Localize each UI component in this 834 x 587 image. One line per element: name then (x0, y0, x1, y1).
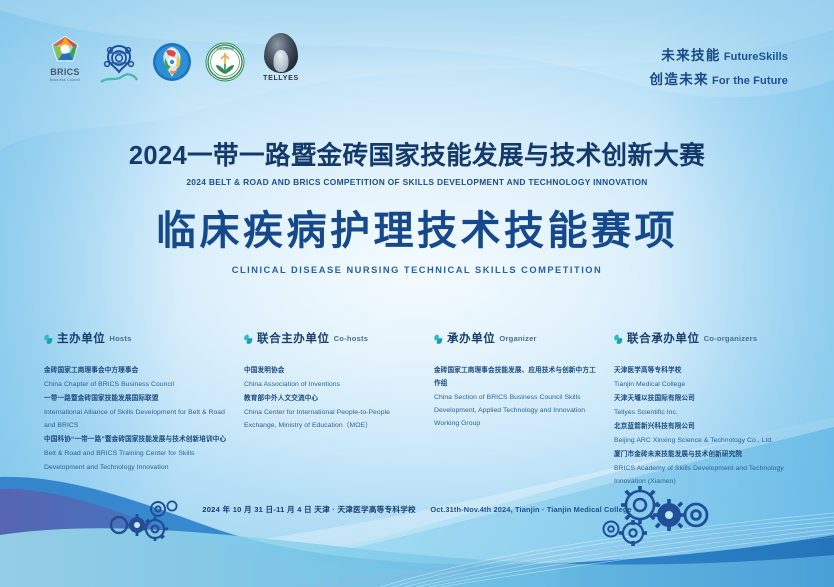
org-entry-cn: 厦门市金砖未来技能发展与技术创新研究院 (614, 449, 790, 462)
org-heading-en: Co-hosts (334, 334, 369, 343)
slogan-line-1: 未来技能FutureSkills (649, 44, 788, 68)
brics-logo-label: BRICS (44, 68, 86, 77)
org-heading: 联合主办单位 Co-hosts (244, 330, 420, 346)
leaf-marker-icon (614, 333, 623, 344)
org-entry-cn: 教育部中外人文交流中心 (244, 393, 420, 406)
org-entry: 北京蓝箭新兴科技有限公司 Beijing ARC Xinxing Science… (614, 421, 790, 447)
org-entry: 一带一路暨金砖国家技能发展国际联盟 International Alliance… (44, 393, 230, 432)
slogan-line-2-cn: 创造未来 (649, 72, 709, 87)
org-entry-en: International Alliance of Skills Develop… (44, 406, 230, 433)
org-entry-cn: 金砖国家工商理事会中方理事会 (44, 365, 230, 378)
competition-banner: BRICS Business Council (0, 0, 834, 587)
org-entry-en: BRICS Academy of Skills Development and … (614, 462, 790, 489)
org-entry: 金砖国家工商理事会中方理事会 China Chapter of BRICS Bu… (44, 365, 230, 391)
org-heading: 联合承办单位 Co-organizers (614, 330, 790, 346)
event-dateline: 2024 年 10 月 31 日-11 月 4 日 天津 · 天津医学高等专科学… (0, 499, 834, 517)
title-block: 2024一带一路暨金砖国家技能发展与技术创新大赛 2024 BELT & ROA… (0, 142, 834, 275)
org-entry-en: China Center for International People-to… (244, 406, 420, 433)
competition-title-en: CLINICAL DISEASE NURSING TECHNICAL SKILL… (0, 265, 834, 275)
leaf-marker-icon (434, 333, 443, 344)
org-heading: 主办单位 Hosts (44, 330, 230, 346)
org-heading: 承办单位 Organizer (434, 330, 600, 346)
org-heading-cn: 承办单位 (447, 330, 495, 346)
org-entry-en: Tianjin Medical College (614, 378, 790, 391)
org-entry-en: Beijing ARC Xinxing Science & Technology… (614, 434, 790, 447)
dateline-en: Oct.31th-Nov.4th 2024, Tianjin · Tianjin… (430, 505, 631, 514)
org-heading-en: Hosts (109, 334, 131, 343)
slogan-line-1-en: FutureSkills (724, 51, 788, 63)
leaf-marker-icon (244, 333, 253, 344)
international-alliance-logo (99, 42, 139, 82)
org-entry-cn: 一带一路暨金砖国家技能发展国际联盟 (44, 393, 230, 406)
org-entry-en: China Section of BRICS Business Council … (434, 391, 600, 431)
org-heading-en: Co-organizers (704, 334, 758, 343)
org-entry: 教育部中外人文交流中心 China Center for Internation… (244, 393, 420, 432)
org-column-organizer: 承办单位 Organizer 金砖国家工商理事会技能发展、应用技术与创新中方工作… (434, 330, 614, 491)
org-entry-cn: 北京蓝箭新兴科技有限公司 (614, 421, 790, 434)
partner-logo-strip: BRICS Business Council (44, 33, 304, 82)
tellyes-mark-icon (264, 33, 298, 73)
org-entry-en: China Association of Inventions (244, 378, 420, 391)
tellyes-logo-label: TELLYES (258, 75, 304, 82)
org-column-co-hosts: 联合主办单位 Co-hosts 中国发明协会 China Association… (244, 330, 434, 491)
org-entry: 天津天堰以技国际有限公司 Tellyes Scientific Inc. (614, 393, 790, 419)
org-entry-cn: 中国发明协会 (244, 365, 420, 378)
org-column-co-organizers: 联合承办单位 Co-organizers 天津医学高等专科学校 Tianjin … (614, 330, 804, 491)
brics-logo-sublabel: Business Council (44, 78, 86, 82)
org-heading-cn: 主办单位 (57, 330, 105, 346)
tellyes-logo: TELLYES (258, 33, 304, 82)
gear-cluster-right (600, 481, 710, 553)
org-entry: 金砖国家工商理事会技能发展、应用技术与创新中方工作组 China Section… (434, 365, 600, 430)
org-heading-cn: 联合主办单位 (257, 330, 330, 346)
org-entry: 厦门市金砖未来技能发展与技术创新研究院 BRICS Academy of Ski… (614, 449, 790, 488)
slogan-block: 未来技能FutureSkills 创造未来For the Future (649, 44, 788, 92)
org-column-hosts: 主办单位 Hosts 金砖国家工商理事会中方理事会 China Chapter … (44, 330, 244, 491)
brics-business-council-logo: BRICS Business Council (44, 34, 86, 82)
china-association-inventions-logo: 中国发明协会 (205, 42, 245, 82)
event-title-en: 2024 BELT & ROAD AND BRICS COMPETITION O… (0, 177, 834, 187)
org-entry-en: China Chapter of BRICS Business Council (44, 378, 230, 391)
event-title-cn: 2024一带一路暨金砖国家技能发展与技术创新大赛 (0, 142, 834, 171)
org-heading-cn: 联合承办单位 (627, 330, 700, 346)
org-entry-en: Belt & Road and BRICS Training Center fo… (44, 447, 230, 474)
org-entry-en: Tellyes Scientific Inc. (614, 406, 790, 419)
competition-title-cn: 临床疾病护理技术技能赛项 (0, 209, 834, 253)
org-entry-cn: 金砖国家工商理事会技能发展、应用技术与创新中方工作组 (434, 365, 600, 391)
org-entry: 天津医学高等专科学校 Tianjin Medical College (614, 365, 790, 391)
org-entry-cn: 中国科协“一带一路”暨金砖国家技能发展与技术创新培训中心 (44, 434, 230, 447)
dateline-cn: 2024 年 10 月 31 日-11 月 4 日 天津 · 天津医学高等专科学… (202, 505, 416, 514)
org-entry: 中国发明协会 China Association of Inventions (244, 365, 420, 391)
slogan-line-1-cn: 未来技能 (661, 48, 721, 63)
brics-mark-icon (48, 34, 82, 66)
organizations-section: 主办单位 Hosts 金砖国家工商理事会中方理事会 China Chapter … (44, 330, 804, 491)
leaf-marker-icon (44, 333, 53, 344)
slogan-line-2-en: For the Future (712, 75, 788, 87)
org-entry: 中国科协“一带一路”暨金砖国家技能发展与技术创新培训中心 Belt & Road… (44, 434, 230, 473)
org-entry-cn: 天津医学高等专科学校 (614, 365, 790, 378)
slogan-line-2: 创造未来For the Future (649, 68, 788, 92)
org-entry-cn: 天津天堰以技国际有限公司 (614, 393, 790, 406)
svg-text:中国发明协会: 中国发明协会 (216, 46, 234, 51)
belt-road-training-center-logo (152, 42, 192, 82)
org-heading-en: Organizer (499, 334, 536, 343)
